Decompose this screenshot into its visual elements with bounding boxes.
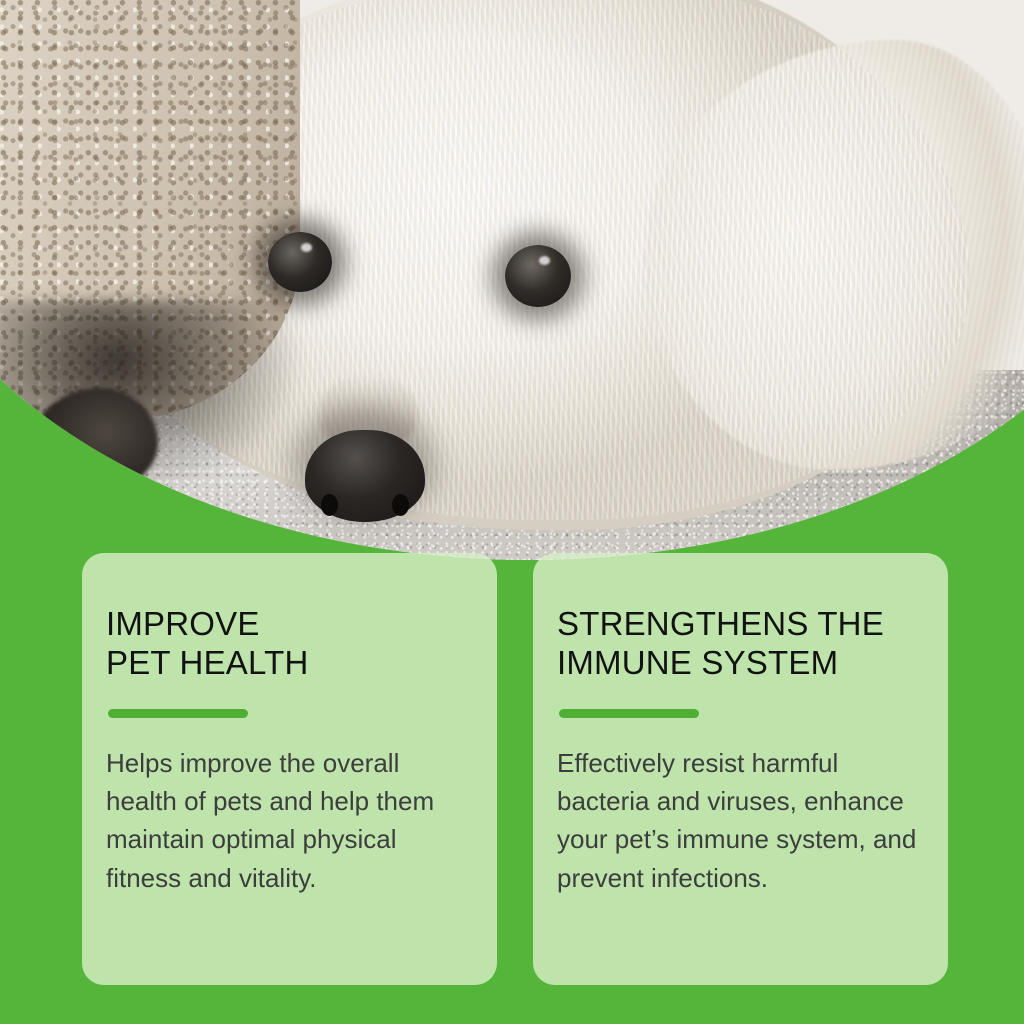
benefit-card-accent-rule [108, 709, 248, 718]
benefit-card-improve-pet-health: IMPROVE PET HEALTH Helps improve the ove… [82, 553, 497, 985]
benefit-card-strengthens-immune-system: STRENGTHENS THE IMMUNE SYSTEM Effectivel… [533, 553, 948, 985]
benefit-card-title: IMPROVE PET HEALTH [106, 605, 469, 683]
benefit-card-body: Helps improve the overall health of pets… [106, 744, 469, 897]
benefit-card-title: STRENGTHENS THE IMMUNE SYSTEM [557, 605, 920, 683]
benefit-card-body: Effectively resist harmful bacteria and … [557, 744, 920, 897]
product-benefit-poster: IMPROVE PET HEALTH Helps improve the ove… [0, 0, 1024, 1024]
benefit-card-accent-rule [559, 709, 699, 718]
benefit-cards: IMPROVE PET HEALTH Helps improve the ove… [0, 0, 1024, 1024]
